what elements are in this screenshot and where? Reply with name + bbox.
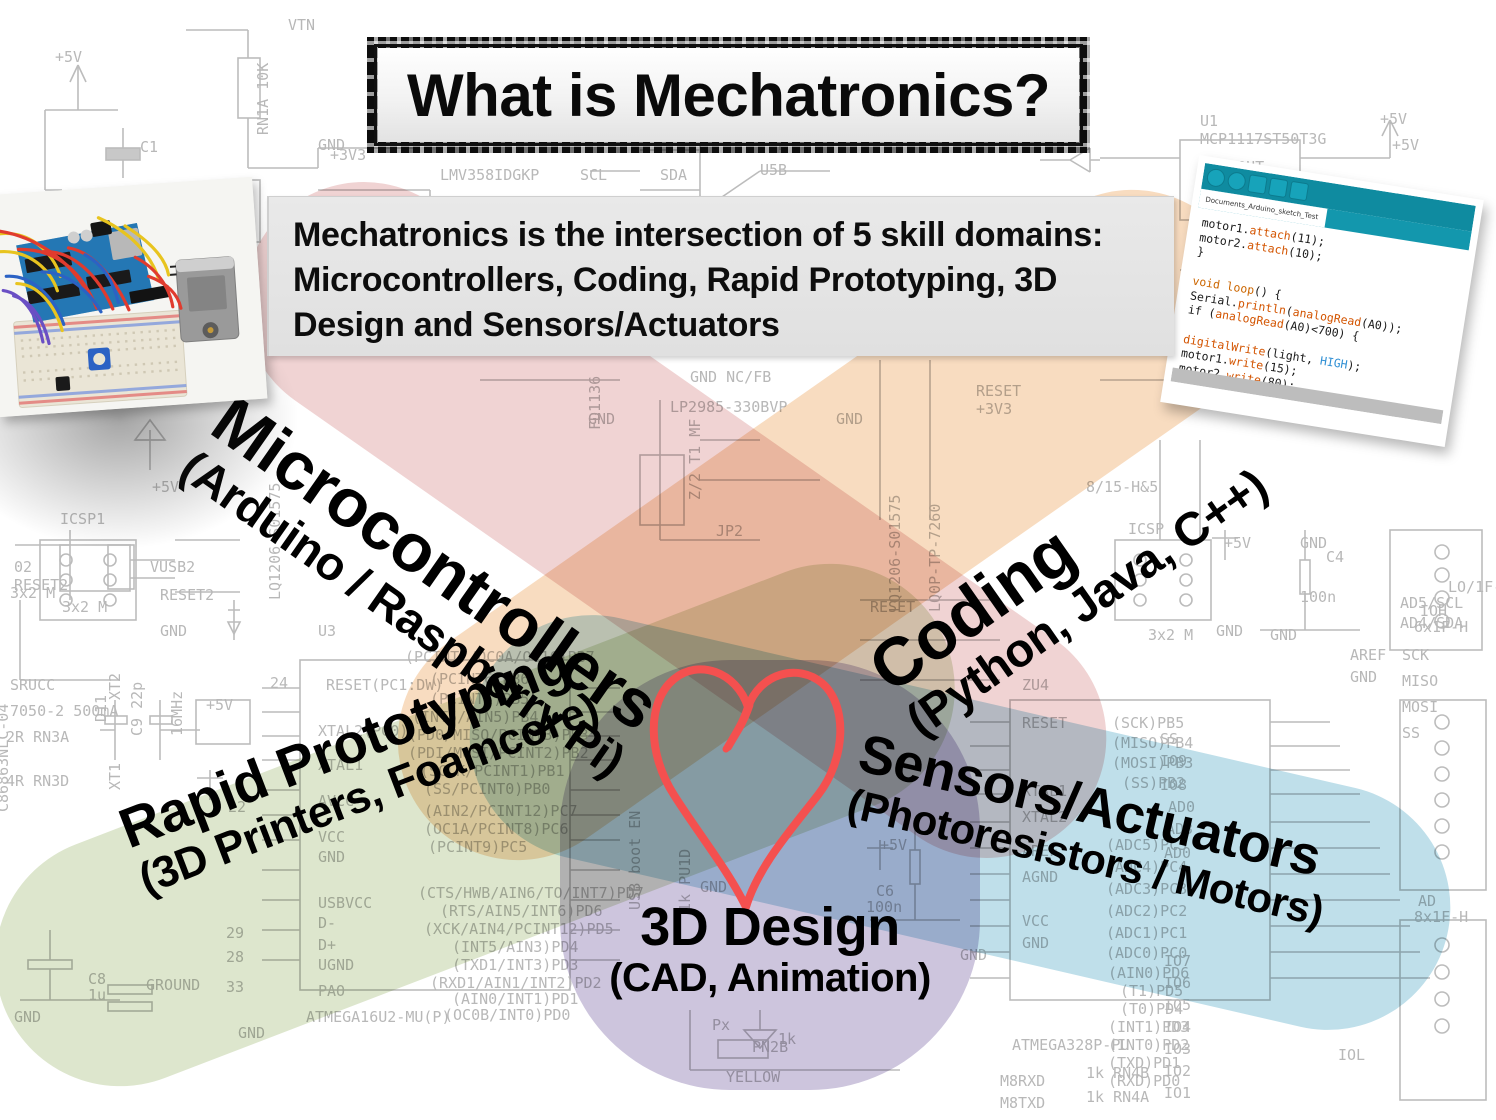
svg-text:IOL: IOL xyxy=(1338,1046,1365,1064)
svg-text:AD4/SDA: AD4/SDA xyxy=(1400,614,1463,632)
svg-text:ATMEGA328P-PU: ATMEGA328P-PU xyxy=(1012,1036,1129,1054)
svg-text:+5V: +5V xyxy=(55,48,82,66)
svg-text:(AIN0/INT1)PD1: (AIN0/INT1)PD1 xyxy=(452,990,578,1008)
upload-icon[interactable] xyxy=(1226,171,1247,192)
svg-text:2R RN3A: 2R RN3A xyxy=(6,728,69,746)
svg-text:(OC0B/INT0)PD0: (OC0B/INT0)PD0 xyxy=(444,1006,570,1024)
svg-text:IO1: IO1 xyxy=(1164,1084,1191,1102)
svg-text:(INT0)PD2: (INT0)PD2 xyxy=(1108,1036,1189,1054)
verify-icon[interactable] xyxy=(1206,168,1227,189)
infographic-canvas: +5V C1 VTN RN1A 10K GND +3V3 LMV358IDGKP… xyxy=(0,0,1496,1120)
svg-text:GND: GND xyxy=(1270,626,1297,644)
page-title-box: What is Mechatronics? xyxy=(377,47,1080,143)
svg-text:02: 02 xyxy=(14,558,32,576)
svg-text:VUSB2: VUSB2 xyxy=(150,558,195,576)
svg-text:(SCK)PB5: (SCK)PB5 xyxy=(1112,714,1184,732)
svg-text:C9 22p: C9 22p xyxy=(128,682,146,736)
svg-text:3x2 M: 3x2 M xyxy=(1148,626,1193,644)
svg-text:6x1F-H: 6x1F-H xyxy=(1414,618,1468,636)
svg-text:IO3: IO3 xyxy=(1164,1040,1191,1058)
svg-text:3x2 M: 3x2 M xyxy=(10,584,55,602)
svg-text:M8RXD: M8RXD xyxy=(1000,1072,1045,1090)
svg-text:(RXD)PD0: (RXD)PD0 xyxy=(1108,1072,1180,1090)
new-icon[interactable] xyxy=(1247,174,1268,195)
svg-text:4R RN3D: 4R RN3D xyxy=(6,772,69,790)
svg-text:C86863NLC-04: C86863NLC-04 xyxy=(0,704,12,812)
domain-label-3d-design: 3D Design (CAD, Animation) xyxy=(609,900,931,998)
svg-text:1k RN4B: 1k RN4B xyxy=(1086,1064,1149,1082)
svg-text:+5V: +5V xyxy=(1224,534,1251,552)
svg-text:SCK: SCK xyxy=(1402,646,1429,664)
svg-text:VTN: VTN xyxy=(288,16,315,34)
svg-text:+5V: +5V xyxy=(206,696,233,714)
svg-text:GND NC/FB: GND NC/FB xyxy=(690,368,771,386)
svg-text:24: 24 xyxy=(270,674,288,692)
svg-text:GND: GND xyxy=(1350,668,1377,686)
svg-text:7050-2 500mA: 7050-2 500mA xyxy=(10,702,118,720)
open-icon[interactable] xyxy=(1268,177,1289,198)
svg-text:(T0)PD4: (T0)PD4 xyxy=(1120,1000,1183,1018)
svg-text:GND: GND xyxy=(160,622,187,640)
svg-text:C4: C4 xyxy=(1326,548,1344,566)
page-title: What is Mechatronics? xyxy=(407,61,1050,130)
svg-text:AD5/SCL: AD5/SCL xyxy=(1400,594,1463,612)
arduino-breadboard-motor-photo xyxy=(0,177,267,417)
description-box: Mechatronics is the intersection of 5 sk… xyxy=(267,196,1174,356)
svg-text:GND: GND xyxy=(318,136,345,154)
svg-text:MCP1117ST50T3G: MCP1117ST50T3G xyxy=(1200,130,1326,148)
save-icon[interactable] xyxy=(1289,181,1310,202)
svg-text:+5V: +5V xyxy=(1380,110,1407,128)
svg-text:U5B: U5B xyxy=(760,161,787,179)
svg-text:SRUCC: SRUCC xyxy=(10,676,55,694)
svg-text:GND: GND xyxy=(1216,622,1243,640)
svg-text:16MHz: 16MHz xyxy=(168,691,186,736)
svg-text:(INT1)PD3: (INT1)PD3 xyxy=(1108,1018,1189,1036)
svg-text:100n: 100n xyxy=(1300,588,1336,606)
svg-text:3x2 M: 3x2 M xyxy=(62,598,107,616)
svg-text:RN1A 10K: RN1A 10K xyxy=(254,63,272,135)
svg-text:RESET2: RESET2 xyxy=(14,576,68,594)
svg-text:D11: D11 xyxy=(92,695,110,722)
svg-text:RESET2: RESET2 xyxy=(160,586,214,604)
svg-text:(TXD)PD1: (TXD)PD1 xyxy=(1108,1054,1180,1072)
domain-label-3d-design-name: 3D Design xyxy=(609,900,931,954)
svg-text:ICSP1: ICSP1 xyxy=(60,510,105,528)
svg-text:LMV358IDGKP: LMV358IDGKP xyxy=(440,166,539,184)
svg-text:GND: GND xyxy=(1300,534,1327,552)
svg-text:U1: U1 xyxy=(1200,112,1218,130)
domain-label-3d-design-detail: (CAD, Animation) xyxy=(609,958,931,998)
svg-text:XT2: XT2 xyxy=(106,673,124,700)
svg-text:U3: U3 xyxy=(318,622,336,640)
description-text: Mechatronics is the intersection of 5 sk… xyxy=(293,213,1162,348)
svg-text:+5V: +5V xyxy=(1392,136,1419,154)
svg-text:+3V3: +3V3 xyxy=(330,146,366,164)
svg-text:MISO: MISO xyxy=(1402,672,1438,690)
svg-text:AREF: AREF xyxy=(1350,646,1386,664)
svg-text:MOSI: MOSI xyxy=(1402,698,1438,716)
svg-text:LO/1F-: LO/1F- xyxy=(1448,578,1496,596)
arduino-ide-screenshot: Documents_Arduino_sketch_Test motor1.att… xyxy=(1160,155,1484,447)
svg-text:XT1: XT1 xyxy=(106,763,124,790)
svg-text:IO2: IO2 xyxy=(1164,1062,1191,1080)
svg-text:SS: SS xyxy=(1402,724,1420,742)
svg-text:SDA: SDA xyxy=(660,166,687,184)
svg-text:1k RN4A: 1k RN4A xyxy=(1086,1088,1149,1106)
svg-text:SCL: SCL xyxy=(580,166,607,184)
svg-text:C1: C1 xyxy=(140,138,158,156)
svg-text:M8TXD: M8TXD xyxy=(1000,1094,1045,1112)
svg-text:IO4: IO4 xyxy=(1164,1018,1191,1036)
svg-text:IOH: IOH xyxy=(1420,602,1447,620)
